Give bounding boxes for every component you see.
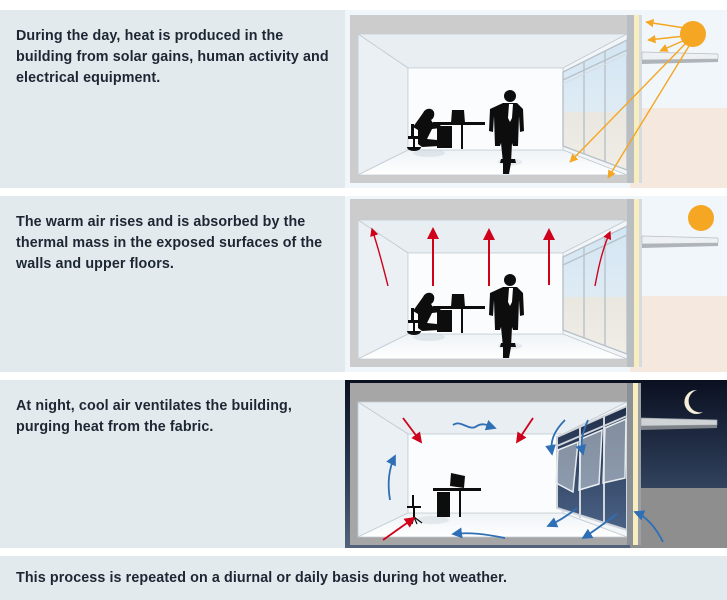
panel-2-text-column: The warm air rises and is absorbed by th… xyxy=(0,196,345,372)
shading-fin xyxy=(642,236,718,248)
diagram-sheet: During the day, heat is produced in the … xyxy=(0,0,727,600)
panel-3-illustration xyxy=(345,380,727,548)
footer-text-column: This process is repeated on a diurnal or… xyxy=(0,556,727,600)
sun-icon xyxy=(688,205,714,231)
back-wall xyxy=(408,434,563,513)
warm-air-rises-svg xyxy=(345,196,727,372)
ground xyxy=(630,108,727,188)
footer-caption: This process is repeated on a diurnal or… xyxy=(16,568,716,589)
panel-3-text-column: At night, cool air ventilates the buildi… xyxy=(0,380,345,548)
night-purge-svg xyxy=(345,380,727,548)
sun-icon xyxy=(680,21,706,47)
panel-1-caption: During the day, heat is produced in the … xyxy=(16,26,332,89)
panel-2-illustration xyxy=(345,196,727,372)
panel-3-caption: At night, cool air ventilates the buildi… xyxy=(16,396,332,438)
ground xyxy=(630,296,727,372)
panel-night-purge: At night, cool air ventilates the buildi… xyxy=(0,380,727,548)
shading-fin xyxy=(642,52,718,64)
shading-fin xyxy=(641,418,717,430)
facade-edge xyxy=(627,15,642,183)
day-heat-gain-svg xyxy=(345,10,727,188)
panel-2-caption: The warm air rises and is absorbed by th… xyxy=(16,212,332,275)
panel-footer: This process is repeated on a diurnal or… xyxy=(0,556,727,600)
facade-edge xyxy=(627,383,641,545)
panel-day-heat-gain: During the day, heat is produced in the … xyxy=(0,10,727,188)
panel-1-text-column: During the day, heat is produced in the … xyxy=(0,10,345,188)
panel-warm-air-rises: The warm air rises and is absorbed by th… xyxy=(0,196,727,372)
panel-1-illustration xyxy=(345,10,727,188)
back-wall xyxy=(408,68,563,150)
facade-edge xyxy=(627,199,642,367)
